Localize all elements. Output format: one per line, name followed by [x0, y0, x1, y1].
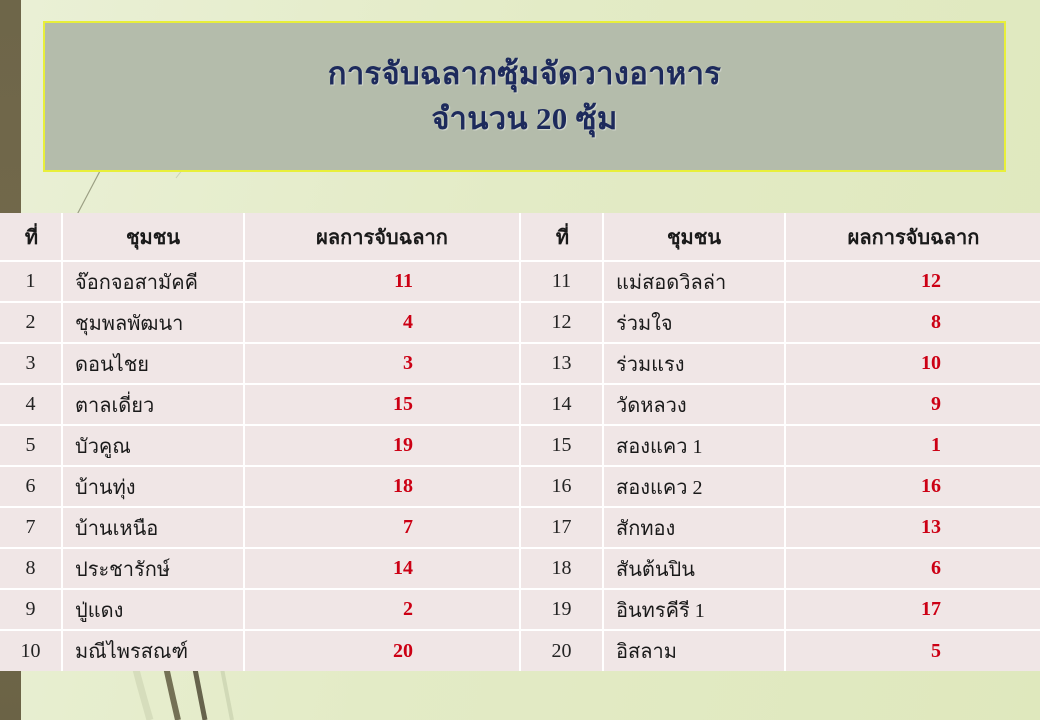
cell-community: ตาลเดี่ยว	[62, 384, 244, 425]
cell-result: 5	[785, 630, 1040, 671]
cell-community: สองแคว 2	[603, 466, 785, 507]
cell-result: 1	[785, 425, 1040, 466]
table-row[interactable]: 2ชุมพลพัฒนา4	[0, 302, 520, 343]
cell-no: 19	[521, 589, 603, 630]
cell-community: ร่วมใจ	[603, 302, 785, 343]
cell-no: 7	[0, 507, 62, 548]
cell-result: 18	[244, 466, 520, 507]
cell-no: 6	[0, 466, 62, 507]
column-header-result: ผลการจับฉลาก	[785, 213, 1040, 261]
lottery-table-right: ที่ ชุมชน ผลการจับฉลาก 11แม่สอดวิลล่า12 …	[521, 213, 1040, 671]
cell-community: สองแคว 1	[603, 425, 785, 466]
cell-result: 20	[244, 630, 520, 671]
cell-result: 3	[244, 343, 520, 384]
page-title-line-2: จำนวน 20 ซุ้ม	[431, 100, 617, 139]
column-header-name: ชุมชน	[62, 213, 244, 261]
cell-no: 11	[521, 261, 603, 302]
cell-no: 2	[0, 302, 62, 343]
cell-community: อิสลาม	[603, 630, 785, 671]
cell-no: 5	[0, 425, 62, 466]
cell-result: 2	[244, 589, 520, 630]
cell-no: 13	[521, 343, 603, 384]
cell-community: ชุมพลพัฒนา	[62, 302, 244, 343]
cell-community: มณีไพรสณฑ์	[62, 630, 244, 671]
cell-no: 3	[0, 343, 62, 384]
cell-no: 4	[0, 384, 62, 425]
cell-community: สันต้นปิน	[603, 548, 785, 589]
table-row[interactable]: 18สันต้นปิน6	[521, 548, 1040, 589]
table-row[interactable]: 16สองแคว 216	[521, 466, 1040, 507]
table-row[interactable]: 11แม่สอดวิลล่า12	[521, 261, 1040, 302]
cell-result: 14	[244, 548, 520, 589]
cell-community: อินทรคีรี 1	[603, 589, 785, 630]
cell-no: 9	[0, 589, 62, 630]
cell-community: ดอนไชย	[62, 343, 244, 384]
cell-result: 10	[785, 343, 1040, 384]
lottery-table-right-body: 11แม่สอดวิลล่า12 12ร่วมใจ8 13ร่วมแรง10 1…	[521, 261, 1040, 671]
cell-result: 19	[244, 425, 520, 466]
table-row[interactable]: 5บัวคูณ19	[0, 425, 520, 466]
slide-title-box: การจับฉลากซุ้มจัดวางอาหาร จำนวน 20 ซุ้ม	[43, 21, 1006, 172]
cell-result: 4	[244, 302, 520, 343]
cell-no: 1	[0, 261, 62, 302]
cell-no: 14	[521, 384, 603, 425]
table-row[interactable]: 19อินทรคีรี 117	[521, 589, 1040, 630]
table-header-row: ที่ ชุมชน ผลการจับฉลาก	[0, 213, 520, 261]
lottery-tables-area: ที่ ชุมชน ผลการจับฉลาก 1จ๊อกจอสามัคคี11 …	[0, 213, 1040, 671]
table-row[interactable]: 13ร่วมแรง10	[521, 343, 1040, 384]
cell-community: บัวคูณ	[62, 425, 244, 466]
cell-no: 16	[521, 466, 603, 507]
table-row[interactable]: 17สักทอง13	[521, 507, 1040, 548]
cell-result: 7	[244, 507, 520, 548]
table-row[interactable]: 12ร่วมใจ8	[521, 302, 1040, 343]
table-row[interactable]: 14วัดหลวง9	[521, 384, 1040, 425]
cell-community: บ้านทุ่ง	[62, 466, 244, 507]
cell-result: 16	[785, 466, 1040, 507]
table-row[interactable]: 15สองแคว 11	[521, 425, 1040, 466]
cell-result: 8	[785, 302, 1040, 343]
cell-no: 20	[521, 630, 603, 671]
column-header-no: ที่	[521, 213, 603, 261]
cell-no: 18	[521, 548, 603, 589]
cell-result: 6	[785, 548, 1040, 589]
cell-result: 15	[244, 384, 520, 425]
cell-result: 13	[785, 507, 1040, 548]
column-header-no: ที่	[0, 213, 62, 261]
table-row[interactable]: 7บ้านเหนือ7	[0, 507, 520, 548]
cell-no: 10	[0, 630, 62, 671]
cell-result: 9	[785, 384, 1040, 425]
lottery-table-left-body: 1จ๊อกจอสามัคคี11 2ชุมพลพัฒนา4 3ดอนไชย3 4…	[0, 261, 520, 671]
table-row[interactable]: 4ตาลเดี่ยว15	[0, 384, 520, 425]
cell-no: 15	[521, 425, 603, 466]
page-title-line-1: การจับฉลากซุ้มจัดวางอาหาร	[328, 55, 722, 94]
cell-result: 11	[244, 261, 520, 302]
cell-community: ปู่แดง	[62, 589, 244, 630]
cell-community: บ้านเหนือ	[62, 507, 244, 548]
table-row[interactable]: 20อิสลาม5	[521, 630, 1040, 671]
cell-community: แม่สอดวิลล่า	[603, 261, 785, 302]
cell-community: จ๊อกจอสามัคคี	[62, 261, 244, 302]
cell-community: วัดหลวง	[603, 384, 785, 425]
cell-no: 8	[0, 548, 62, 589]
cell-result: 12	[785, 261, 1040, 302]
cell-no: 12	[521, 302, 603, 343]
cell-result: 17	[785, 589, 1040, 630]
table-row[interactable]: 10มณีไพรสณฑ์20	[0, 630, 520, 671]
column-header-name: ชุมชน	[603, 213, 785, 261]
cell-community: สักทอง	[603, 507, 785, 548]
table-header-row: ที่ ชุมชน ผลการจับฉลาก	[521, 213, 1040, 261]
table-row[interactable]: 8ประชารักษ์14	[0, 548, 520, 589]
cell-community: ประชารักษ์	[62, 548, 244, 589]
lottery-table-left: ที่ ชุมชน ผลการจับฉลาก 1จ๊อกจอสามัคคี11 …	[0, 213, 521, 671]
table-row[interactable]: 9ปู่แดง2	[0, 589, 520, 630]
column-header-result: ผลการจับฉลาก	[244, 213, 520, 261]
table-row[interactable]: 1จ๊อกจอสามัคคี11	[0, 261, 520, 302]
table-row[interactable]: 3ดอนไชย3	[0, 343, 520, 384]
cell-no: 17	[521, 507, 603, 548]
table-row[interactable]: 6บ้านทุ่ง18	[0, 466, 520, 507]
cell-community: ร่วมแรง	[603, 343, 785, 384]
